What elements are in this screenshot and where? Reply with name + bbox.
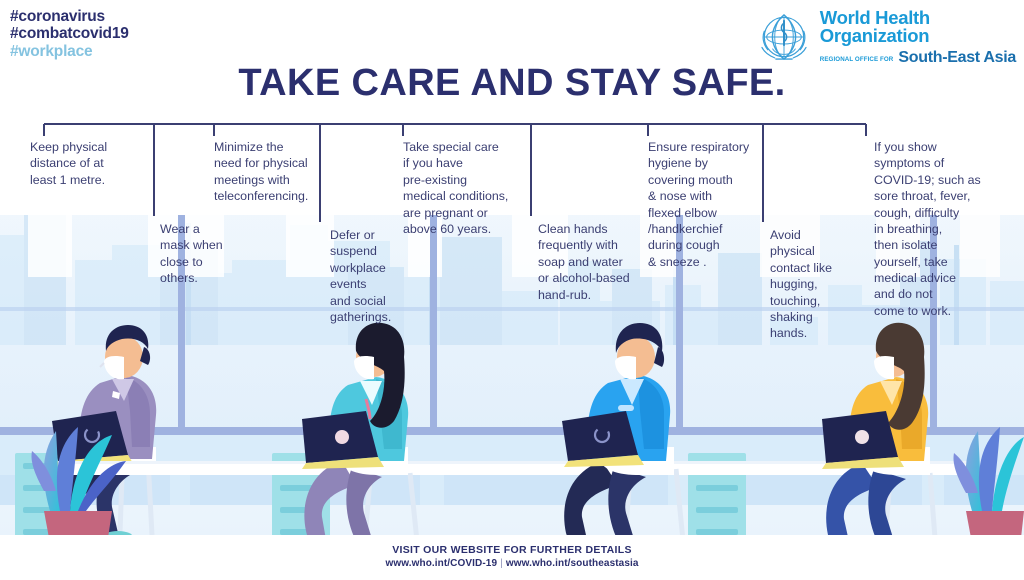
who-emblem-icon: [755, 8, 813, 66]
footer-url-searo[interactable]: www.who.int/southeastasia: [506, 558, 639, 569]
office-illustration: [0, 215, 1024, 575]
tip-respiratory-hygiene: Ensure respiratory hygiene by covering m…: [648, 139, 788, 270]
footer-headline: VISIT OUR WEBSITE FOR FURTHER DETAILS: [0, 544, 1024, 556]
tip-minimize-meetings: Minimize the need for physical meetings …: [214, 139, 354, 205]
who-wordmark: World Health Organization REGIONAL OFFIC…: [820, 9, 1016, 66]
hashtag-workplace: #workplace: [10, 43, 129, 60]
window-mullion-upper: [0, 307, 1024, 311]
tip-wear-mask: Wear a mask when close to others.: [160, 221, 260, 287]
footer-urls: www.who.int/COVID-19|www.who.int/southea…: [0, 558, 1024, 569]
who-regional-prefix: REGIONAL OFFICE FOR: [820, 57, 894, 65]
hashtag-combatcovid19: #combatcovid19: [10, 25, 129, 42]
tip-physical-distance: Keep physical distance of at least 1 met…: [30, 139, 160, 188]
footer: VISIT OUR WEBSITE FOR FURTHER DETAILS ww…: [0, 544, 1024, 569]
tip-special-care: Take special care if you have pre-existi…: [403, 139, 543, 237]
who-region-row: REGIONAL OFFICE FOR South-East Asia: [820, 50, 1016, 66]
footer-separator: |: [497, 558, 506, 569]
tip-show-symptoms: If you show symptoms of COVID-19; such a…: [874, 139, 1014, 319]
page-title: TAKE CARE AND STAY SAFE.: [0, 62, 1024, 105]
who-line-2: Organization: [820, 27, 1016, 46]
tip-clean-hands: Clean hands frequently with soap and wat…: [538, 221, 663, 303]
scene-svg: [0, 215, 1024, 575]
poster-root: #coronavirus #combatcovid19 #workplace T…: [0, 0, 1024, 575]
hashtag-group: #coronavirus #combatcovid19 #workplace: [10, 8, 129, 60]
who-logo: World Health Organization REGIONAL OFFIC…: [755, 8, 1016, 66]
hashtag-coronavirus: #coronavirus: [10, 8, 129, 25]
who-region: South-East Asia: [898, 50, 1016, 66]
footer-url-covid[interactable]: www.who.int/COVID-19: [385, 558, 497, 569]
tip-defer-events: Defer or suspend workplace events and so…: [330, 227, 430, 325]
tip-avoid-contact: Avoid physical contact like hugging, tou…: [770, 227, 870, 342]
